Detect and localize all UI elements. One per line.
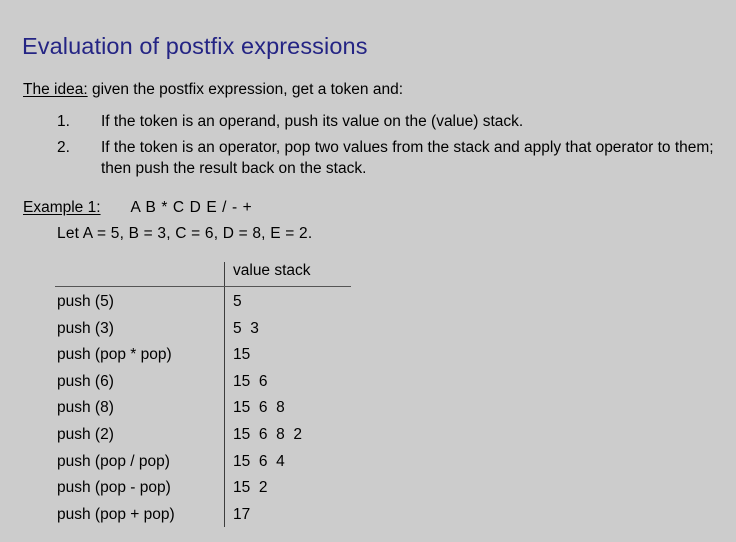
example-expression: A B * C D E / - + (131, 199, 253, 216)
example-assignments: Let A = 5, B = 3, C = 6, D = 8, E = 2. (57, 225, 312, 243)
column-header-value-stack: value stack (233, 262, 311, 280)
list-item: 2. If the token is an operator, pop two … (57, 137, 717, 179)
example-heading: Example 1:A B * C D E / - + (23, 199, 252, 217)
row-stack-value: 5 3 (233, 320, 259, 338)
table-row: push (6) 15 6 (55, 373, 355, 400)
row-operation: push (6) (57, 373, 114, 391)
row-stack-value: 5 (233, 293, 242, 311)
table-row: push (8) 15 6 8 (55, 399, 355, 426)
list-item: 1. If the token is an operand, push its … (57, 111, 717, 132)
list-item-marker: 2. (57, 137, 70, 158)
table-row: push (pop * pop) 15 (55, 346, 355, 373)
list-item-text: If the token is an operand, push its val… (101, 111, 717, 132)
table-row: push (pop - pop) 15 2 (55, 479, 355, 506)
row-operation: push (pop - pop) (57, 479, 171, 497)
steps-list: 1. If the token is an operand, push its … (57, 111, 717, 184)
row-stack-value: 15 2 (233, 479, 267, 497)
row-operation: push (pop * pop) (57, 346, 172, 364)
row-stack-value: 15 6 8 2 (233, 426, 302, 444)
row-operation: push (2) (57, 426, 114, 444)
row-stack-value: 17 (233, 506, 250, 524)
idea-text: given the postfix expression, get a toke… (88, 81, 403, 98)
row-stack-value: 15 6 8 (233, 399, 285, 417)
row-operation: push (pop / pop) (57, 453, 170, 471)
table-row: push (pop + pop) 17 (55, 506, 355, 533)
table-row: push (5) 5 (55, 293, 355, 320)
table-row: push (pop / pop) 15 6 4 (55, 453, 355, 480)
trace-table-rows: push (5) 5 push (3) 5 3 push (pop * pop)… (55, 293, 355, 532)
table-header-rule (55, 286, 351, 287)
list-item-marker: 1. (57, 111, 70, 132)
slide-canvas: Evaluation of postfix expressions The id… (0, 0, 736, 542)
page-title: Evaluation of postfix expressions (22, 33, 368, 60)
example-label: Example 1: (23, 199, 101, 216)
row-operation: push (5) (57, 293, 114, 311)
row-stack-value: 15 6 4 (233, 453, 285, 471)
row-operation: push (3) (57, 320, 114, 338)
table-row: push (3) 5 3 (55, 320, 355, 347)
list-item-text: If the token is an operator, pop two val… (101, 137, 717, 179)
idea-statement: The idea: given the postfix expression, … (23, 81, 403, 99)
row-stack-value: 15 (233, 346, 250, 364)
table-row: push (2) 15 6 8 2 (55, 426, 355, 453)
row-operation: push (8) (57, 399, 114, 417)
row-stack-value: 15 6 (233, 373, 267, 391)
row-operation: push (pop + pop) (57, 506, 175, 524)
idea-label: The idea: (23, 81, 88, 98)
